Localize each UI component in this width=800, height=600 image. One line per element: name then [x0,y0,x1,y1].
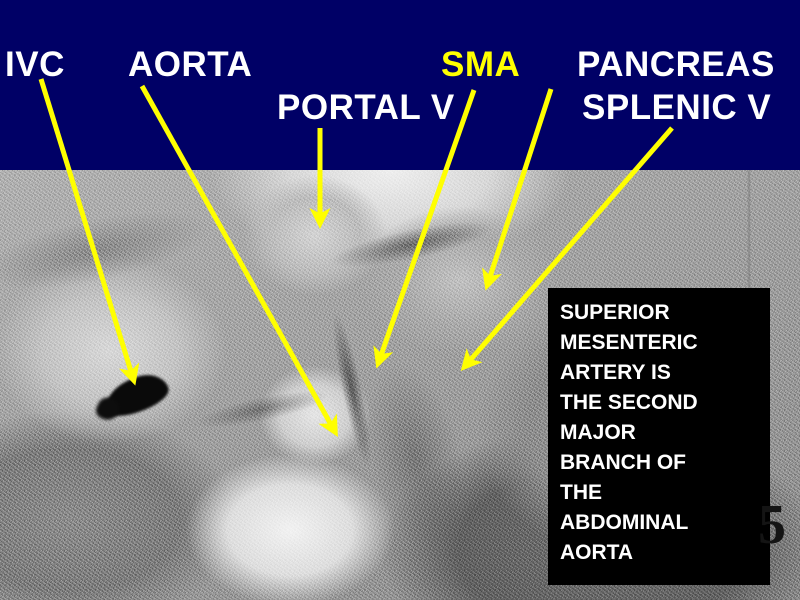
page-number: 5 [758,497,786,553]
caption-line: ABDOMINAL [560,508,770,538]
caption-box: SUPERIOR MESENTERIC ARTERY IS THE SECOND… [548,288,770,585]
caption-line: THE SECOND [560,388,770,418]
caption-line: BRANCH OF [560,448,770,478]
arrow-ivc [41,79,133,378]
caption-line: SUPERIOR [560,298,770,328]
slide-canvas: IVC AORTA PORTAL V SMA PANCREAS SPLENIC … [0,0,800,600]
arrow-pancreas [488,89,551,283]
caption-line: MAJOR [560,418,770,448]
caption-line: AORTA [560,538,770,568]
arrow-sma [379,90,474,361]
caption-line: MESENTERIC [560,328,770,358]
arrow-aorta [142,86,334,430]
caption-line: ARTERY IS [560,358,770,388]
caption-line: THE [560,478,770,508]
